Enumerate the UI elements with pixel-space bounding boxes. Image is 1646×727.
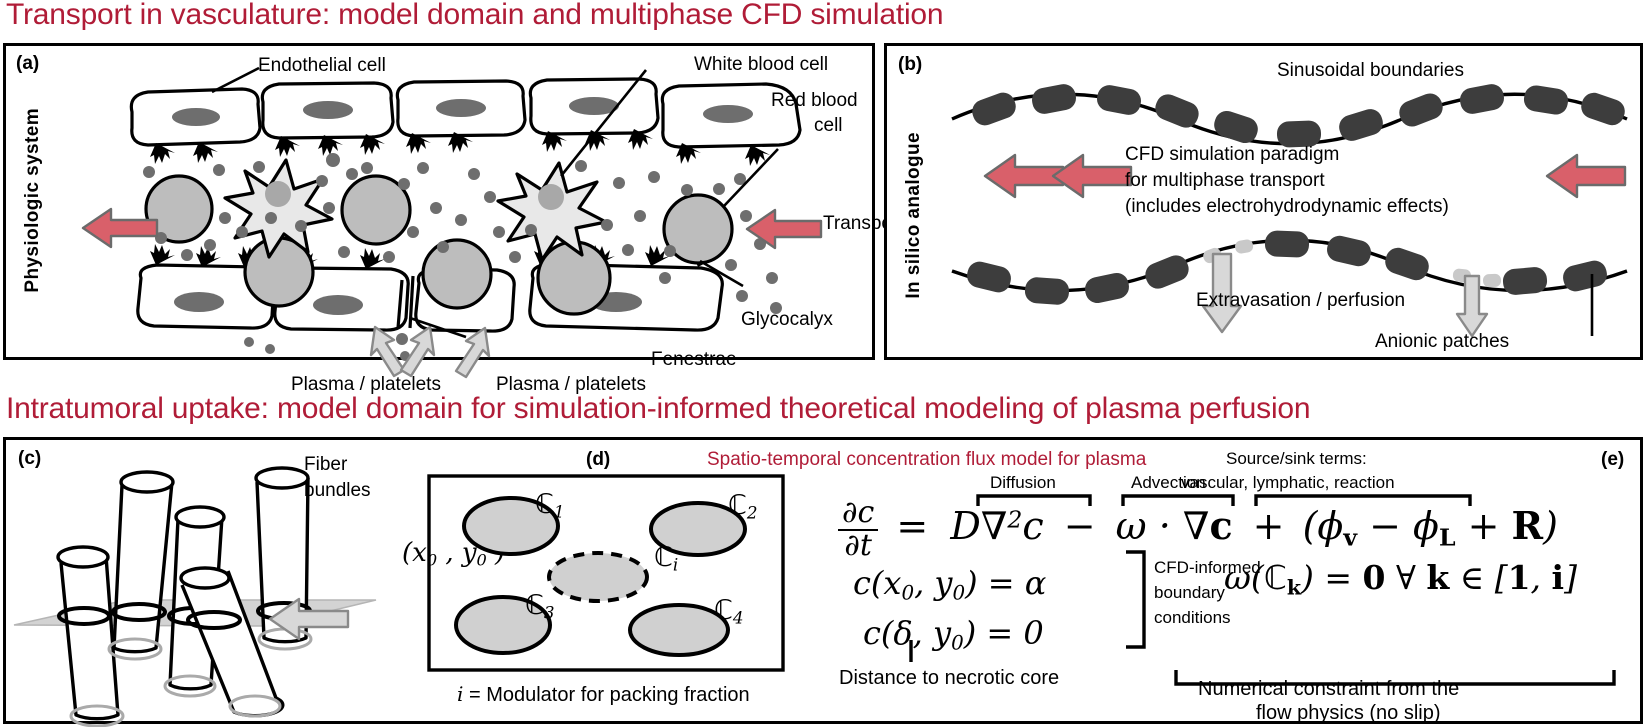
label-endothelial-cell: Endothelial cell (258, 55, 386, 77)
plasma-platelet-arrows (371, 327, 489, 377)
annotation-bc-2: boundary (1154, 583, 1225, 603)
red-blood-cell (538, 242, 610, 314)
panel-e-letter: (e) (1601, 449, 1624, 471)
figure-title-bottom: Intratumoral uptake: model domain for si… (6, 392, 1310, 426)
cfd-arrow-3 (1547, 155, 1625, 197)
brace-label-source-2: vascular, lymphatic, reaction (1181, 473, 1395, 493)
label-sinusoidal-boundaries: Sinusoidal boundaries (1277, 60, 1464, 82)
equation-bc2: c(δ, y0) = 0 (863, 614, 1044, 655)
equation-main: ∂c∂t = D∇2c − ω · ∇c + (ϕv − ϕL + R) (838, 498, 1558, 561)
endothelial-cell-top-2 (262, 83, 393, 138)
annotation-bc-3: conditions (1154, 608, 1231, 628)
label-anionic-patches: Anionic patches (1375, 331, 1509, 353)
cfd-arrow-2 (1053, 155, 1131, 197)
annotation-constraint-2: flow physics (no slip) (1256, 702, 1441, 725)
cfd-arrow-1 (985, 155, 1063, 197)
label-ellipse-C1: ℂ1 (535, 489, 565, 522)
label-ellipse-C4: ℂ4 (714, 595, 744, 628)
endothelial-cell-top-4 (530, 79, 658, 134)
label-white-blood-cell: White blood cell (694, 54, 828, 76)
label-red-blood-cell-l2: cell (814, 115, 843, 137)
label-paradigm-2: for multiphase transport (1125, 170, 1325, 192)
label-ellipse-C3: ℂ3 (525, 590, 555, 623)
panel-a: (a) Physiologic system (3, 43, 875, 360)
label-fiber-2: bundles (304, 480, 371, 502)
panel-d-letter: (d) (586, 449, 610, 471)
brace-label-source-1: Source/sink terms: (1226, 449, 1367, 469)
label-glycocalyx: Glycocalyx (741, 309, 833, 331)
label-fiber-1: Fiber (304, 454, 347, 476)
label-ellipse-Ci: ℂi (654, 542, 678, 575)
label-ellipse-C2: ℂ2 (728, 490, 758, 523)
red-blood-cell (423, 240, 491, 308)
figure-title-top: Transport in vasculature: model domain a… (6, 0, 943, 32)
label-paradigm-3: (includes electrohydrodynamic effects) (1125, 196, 1449, 218)
ellipse-Ci (549, 553, 647, 601)
label-fenestrae: Fenestrae (651, 349, 737, 371)
annotation-delta-note: Distance to necrotic core (839, 667, 1059, 690)
endothelial-cell-top-3 (397, 81, 525, 136)
white-blood-cell (225, 160, 332, 257)
equation-bc1: c(x0, y0) = α (853, 564, 1046, 605)
label-red-blood-cell-l1: Red blood (771, 90, 858, 112)
sinusoid-upper-beads (969, 82, 1628, 148)
equation-constraint: ω(ℂk) = 0 ∀ k ∈ [1, i] (1224, 558, 1577, 600)
panel-b: (b) In silico analogue (884, 43, 1643, 360)
annotation-constraint-1: Numerical constraint from the (1198, 678, 1459, 701)
panel-e-model-title: Spatio-temporal concentration flux model… (707, 449, 1146, 471)
fiber-cylinder (109, 472, 173, 659)
panel-d-caption: i = Modulator for packing fraction (457, 683, 750, 707)
label-paradigm-1: CFD simulation paradigm (1125, 144, 1339, 166)
brace-label-diffusion: Diffusion (990, 473, 1056, 493)
panel-cde: (c) (d) (e) (3, 437, 1643, 724)
label-extravasation: Extravasation / perfusion (1196, 290, 1405, 312)
endothelial-cell-top-1 (131, 89, 260, 145)
